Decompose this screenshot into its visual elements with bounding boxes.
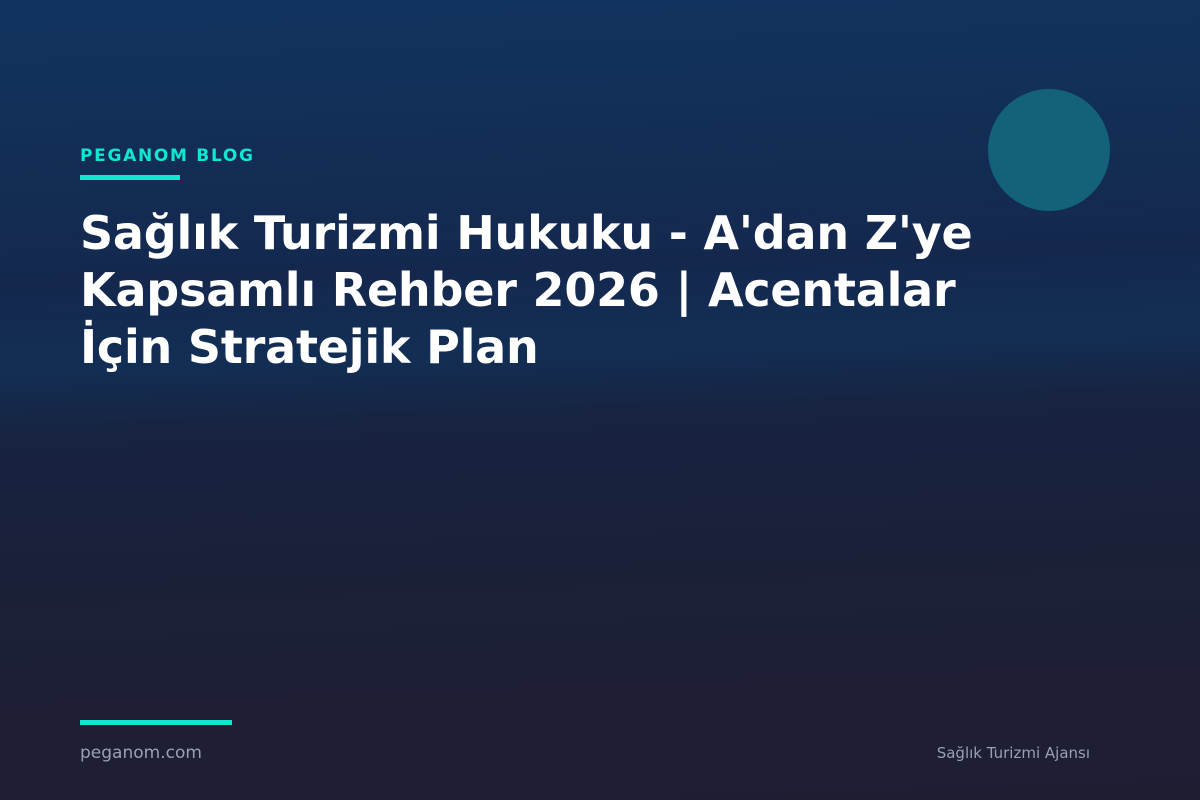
blog-hero-banner: PEGANOM BLOG Sağlık Turizmi Hukuku - A'd… <box>0 0 1200 800</box>
footer-tagline: Sağlık Turizmi Ajansı <box>937 742 1120 764</box>
footer-accent-rule <box>80 720 232 725</box>
banner-content: PEGANOM BLOG Sağlık Turizmi Hukuku - A'd… <box>80 146 1040 376</box>
footer-row: peganom.com Sağlık Turizmi Ajansı <box>80 742 1120 764</box>
banner-footer: peganom.com Sağlık Turizmi Ajansı <box>80 720 1120 764</box>
footer-site-url: peganom.com <box>80 742 202 764</box>
banner-kicker: PEGANOM BLOG <box>80 146 1040 166</box>
page-title: Sağlık Turizmi Hukuku - A'dan Z'ye Kapsa… <box>80 180 980 376</box>
